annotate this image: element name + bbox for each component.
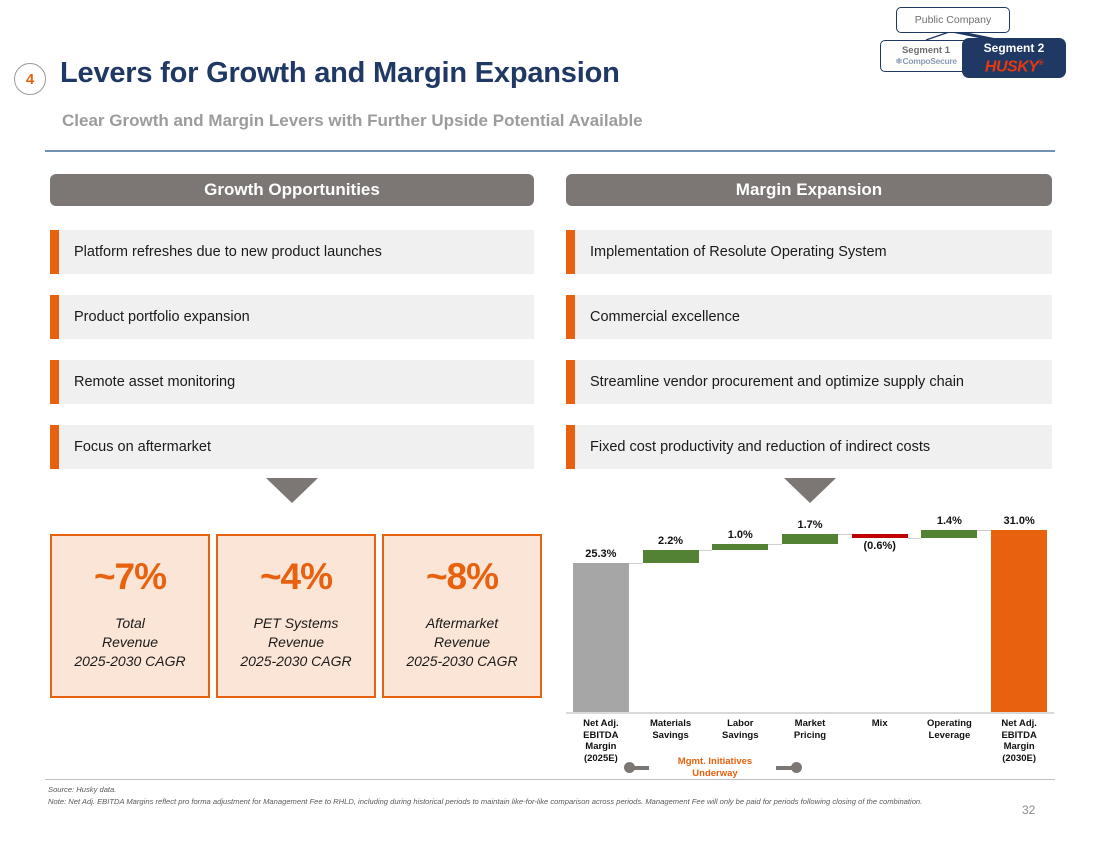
waterfall-bar (573, 563, 629, 712)
waterfall-bar (921, 530, 977, 538)
accent-bar (566, 295, 575, 339)
husky-logo: HUSKY® (985, 55, 1043, 75)
margin-expansion-heading: Margin Expansion (566, 174, 1052, 206)
dumbbell-dot (791, 762, 802, 773)
accent-bar (50, 360, 59, 404)
waterfall-category-label: Net Adj.EBITDAMargin(2025E) (563, 718, 639, 764)
page-title: Levers for Growth and Margin Expansion (60, 57, 620, 90)
accent-bar (50, 230, 59, 274)
cagr-value: ~4% (260, 556, 332, 598)
list-item: Commercial excellence (566, 295, 1052, 339)
cagr-card: ~7% TotalRevenue2025-2030 CAGR (50, 534, 210, 698)
dumbbell-stem (776, 766, 792, 770)
segment-2-label: Segment 2 (984, 41, 1045, 55)
arrow-down-icon (784, 478, 836, 503)
waterfall-connector (699, 550, 713, 551)
waterfall-category-label: LaborSavings (702, 718, 778, 741)
waterfall-category-label: OperatingLeverage (912, 718, 988, 741)
waterfall-value-label: 1.7% (767, 519, 853, 531)
cagr-value: ~7% (94, 556, 166, 598)
waterfall-connector (977, 530, 991, 531)
cagr-card: ~4% PET SystemsRevenue2025-2030 CAGR (216, 534, 376, 698)
accent-bar (566, 360, 575, 404)
step-number-badge: 4 (14, 63, 46, 95)
slide: 4 Levers for Growth and Margin Expansion… (0, 0, 1100, 849)
cagr-card: ~8% AftermarketRevenue2025-2030 CAGR (382, 534, 542, 698)
waterfall-connector (908, 538, 922, 539)
waterfall-bar (782, 534, 838, 544)
waterfall-connector (768, 544, 782, 545)
waterfall-category-label: MarketPricing (772, 718, 848, 741)
composecure-mark: ⚛ (895, 56, 902, 66)
note-line: Note: Net Adj. EBITDA Margins reflect pr… (48, 796, 1038, 808)
arrow-down-icon (266, 478, 318, 503)
waterfall-bar (712, 544, 768, 550)
cagr-caption: TotalRevenue2025-2030 CAGR (74, 614, 185, 671)
lever-label: Commercial excellence (575, 309, 740, 325)
waterfall-connector (838, 534, 852, 535)
list-item: Streamline vendor procurement and optimi… (566, 360, 1052, 404)
dumbbell-stem (633, 766, 649, 770)
lever-label: Remote asset monitoring (59, 374, 235, 390)
waterfall-category-label: Mix (842, 718, 918, 730)
accent-bar (50, 295, 59, 339)
cagr-caption: PET SystemsRevenue2025-2030 CAGR (240, 614, 351, 671)
list-item: Remote asset monitoring (50, 360, 534, 404)
accent-bar (50, 425, 59, 469)
source-note: Source: Husky data. Note: Net Adj. EBITD… (48, 784, 1038, 807)
page-number: 32 (1022, 803, 1035, 817)
waterfall-category-label: Net Adj.EBITDAMargin(2030E) (981, 718, 1057, 764)
list-item: Product portfolio expansion (50, 295, 534, 339)
segment-1-box: Segment 1 ⚛CompoSecure (880, 40, 972, 72)
dumbbell-right-icon (776, 762, 802, 773)
cagr-value: ~8% (426, 556, 498, 598)
list-item: Focus on aftermarket (50, 425, 534, 469)
waterfall-bar (991, 530, 1047, 712)
lever-label: Platform refreshes due to new product la… (59, 244, 382, 260)
ebitda-margin-waterfall-chart: 25.3%2.2%1.0%1.7%(0.6%)1.4%31.0% Mgmt. I… (566, 512, 1054, 780)
waterfall-connector (629, 563, 643, 564)
waterfall-bar (852, 534, 908, 538)
annotation-label: Mgmt. Initiatives Underway (656, 756, 774, 779)
corporate-structure-diagram: Public Company Segment 1 ⚛CompoSecure Se… (866, 2, 1096, 92)
lever-label: Product portfolio expansion (59, 309, 250, 325)
waterfall-value-label: 31.0% (976, 515, 1062, 527)
page-subtitle: Clear Growth and Margin Levers with Furt… (62, 111, 643, 131)
accent-bar (566, 230, 575, 274)
lever-label: Fixed cost productivity and reduction of… (575, 439, 930, 455)
segment-1-label: Segment 1 (902, 45, 950, 56)
public-company-box: Public Company (896, 7, 1010, 33)
growth-opportunities-heading: Growth Opportunities (50, 174, 534, 206)
list-item: Implementation of Resolute Operating Sys… (566, 230, 1052, 274)
segment-2-box: Segment 2 HUSKY® (962, 38, 1066, 78)
source-line: Source: Husky data. (48, 784, 1038, 796)
list-item: Fixed cost productivity and reduction of… (566, 425, 1052, 469)
lever-label: Focus on aftermarket (59, 439, 211, 455)
composecure-logo: ⚛CompoSecure (895, 56, 957, 67)
header-divider (45, 150, 1055, 152)
accent-bar (566, 425, 575, 469)
list-item: Platform refreshes due to new product la… (50, 230, 534, 274)
waterfall-plot-area: 25.3%2.2%1.0%1.7%(0.6%)1.4%31.0% (566, 512, 1054, 712)
waterfall-bar (643, 550, 699, 563)
waterfall-value-label: 25.3% (558, 548, 644, 560)
cagr-caption: AftermarketRevenue2025-2030 CAGR (406, 614, 517, 671)
chart-baseline-axis (566, 712, 1054, 714)
waterfall-value-label: (0.6%) (837, 540, 923, 552)
lever-label: Streamline vendor procurement and optimi… (575, 374, 964, 390)
footer-divider (45, 779, 1055, 780)
lever-label: Implementation of Resolute Operating Sys… (575, 244, 887, 260)
public-company-label: Public Company (915, 14, 991, 26)
waterfall-category-label: MaterialsSavings (633, 718, 709, 741)
